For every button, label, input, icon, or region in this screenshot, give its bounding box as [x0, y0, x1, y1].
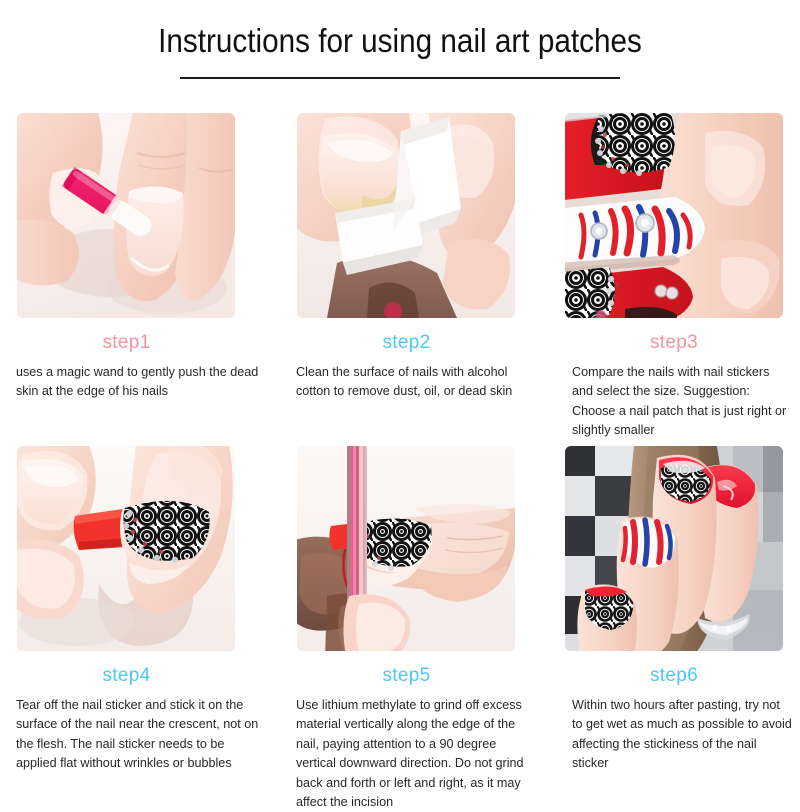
cuticle-pusher-photo	[17, 113, 235, 318]
step-label-4: step4	[0, 665, 253, 689]
steps-grid: step1 uses a magic wand to gently push t…	[0, 113, 800, 812]
step-card-1: step1 uses a magic wand to gently push t…	[0, 113, 280, 446]
step-card-4: step4 Tear off the nail sticker and stic…	[0, 446, 280, 812]
step-label-1: step1	[0, 332, 253, 356]
nail-sticker-sheet-photo	[565, 113, 783, 318]
step-description-1: uses a magic wand to gently push the dea…	[16, 363, 262, 402]
step-description-5: Use lithium methylate to grind off exces…	[296, 696, 536, 812]
step-description-3: Compare the nails with nail stickers and…	[572, 363, 792, 441]
step-card-6: step6 Within two hours after pasting, tr…	[560, 446, 800, 812]
applying-sticker-photo	[17, 446, 235, 651]
step-description-2: Clean the surface of nails with alcohol …	[296, 363, 536, 402]
step-label-3: step3	[565, 332, 783, 356]
step-card-2: step2 Clean the surface of nails with al…	[280, 113, 560, 446]
finished-manicure-photo	[565, 446, 783, 651]
step-label-2: step2	[280, 332, 533, 356]
title-divider	[180, 77, 620, 79]
step-card-5: step5 Use lithium methylate to grind off…	[280, 446, 560, 812]
step-card-3: step3 Compare the nails with nail sticke…	[560, 113, 800, 446]
step-label-5: step5	[280, 665, 533, 689]
page-title: Instructions for using nail art patches	[40, 0, 760, 62]
step-description-6: Within two hours after pasting, try not …	[572, 696, 792, 774]
step-description-4: Tear off the nail sticker and stick it o…	[16, 696, 262, 774]
filing-edge-photo	[297, 446, 515, 651]
step-label-6: step6	[565, 665, 783, 689]
cotton-pad-cleaning-photo	[297, 113, 515, 318]
